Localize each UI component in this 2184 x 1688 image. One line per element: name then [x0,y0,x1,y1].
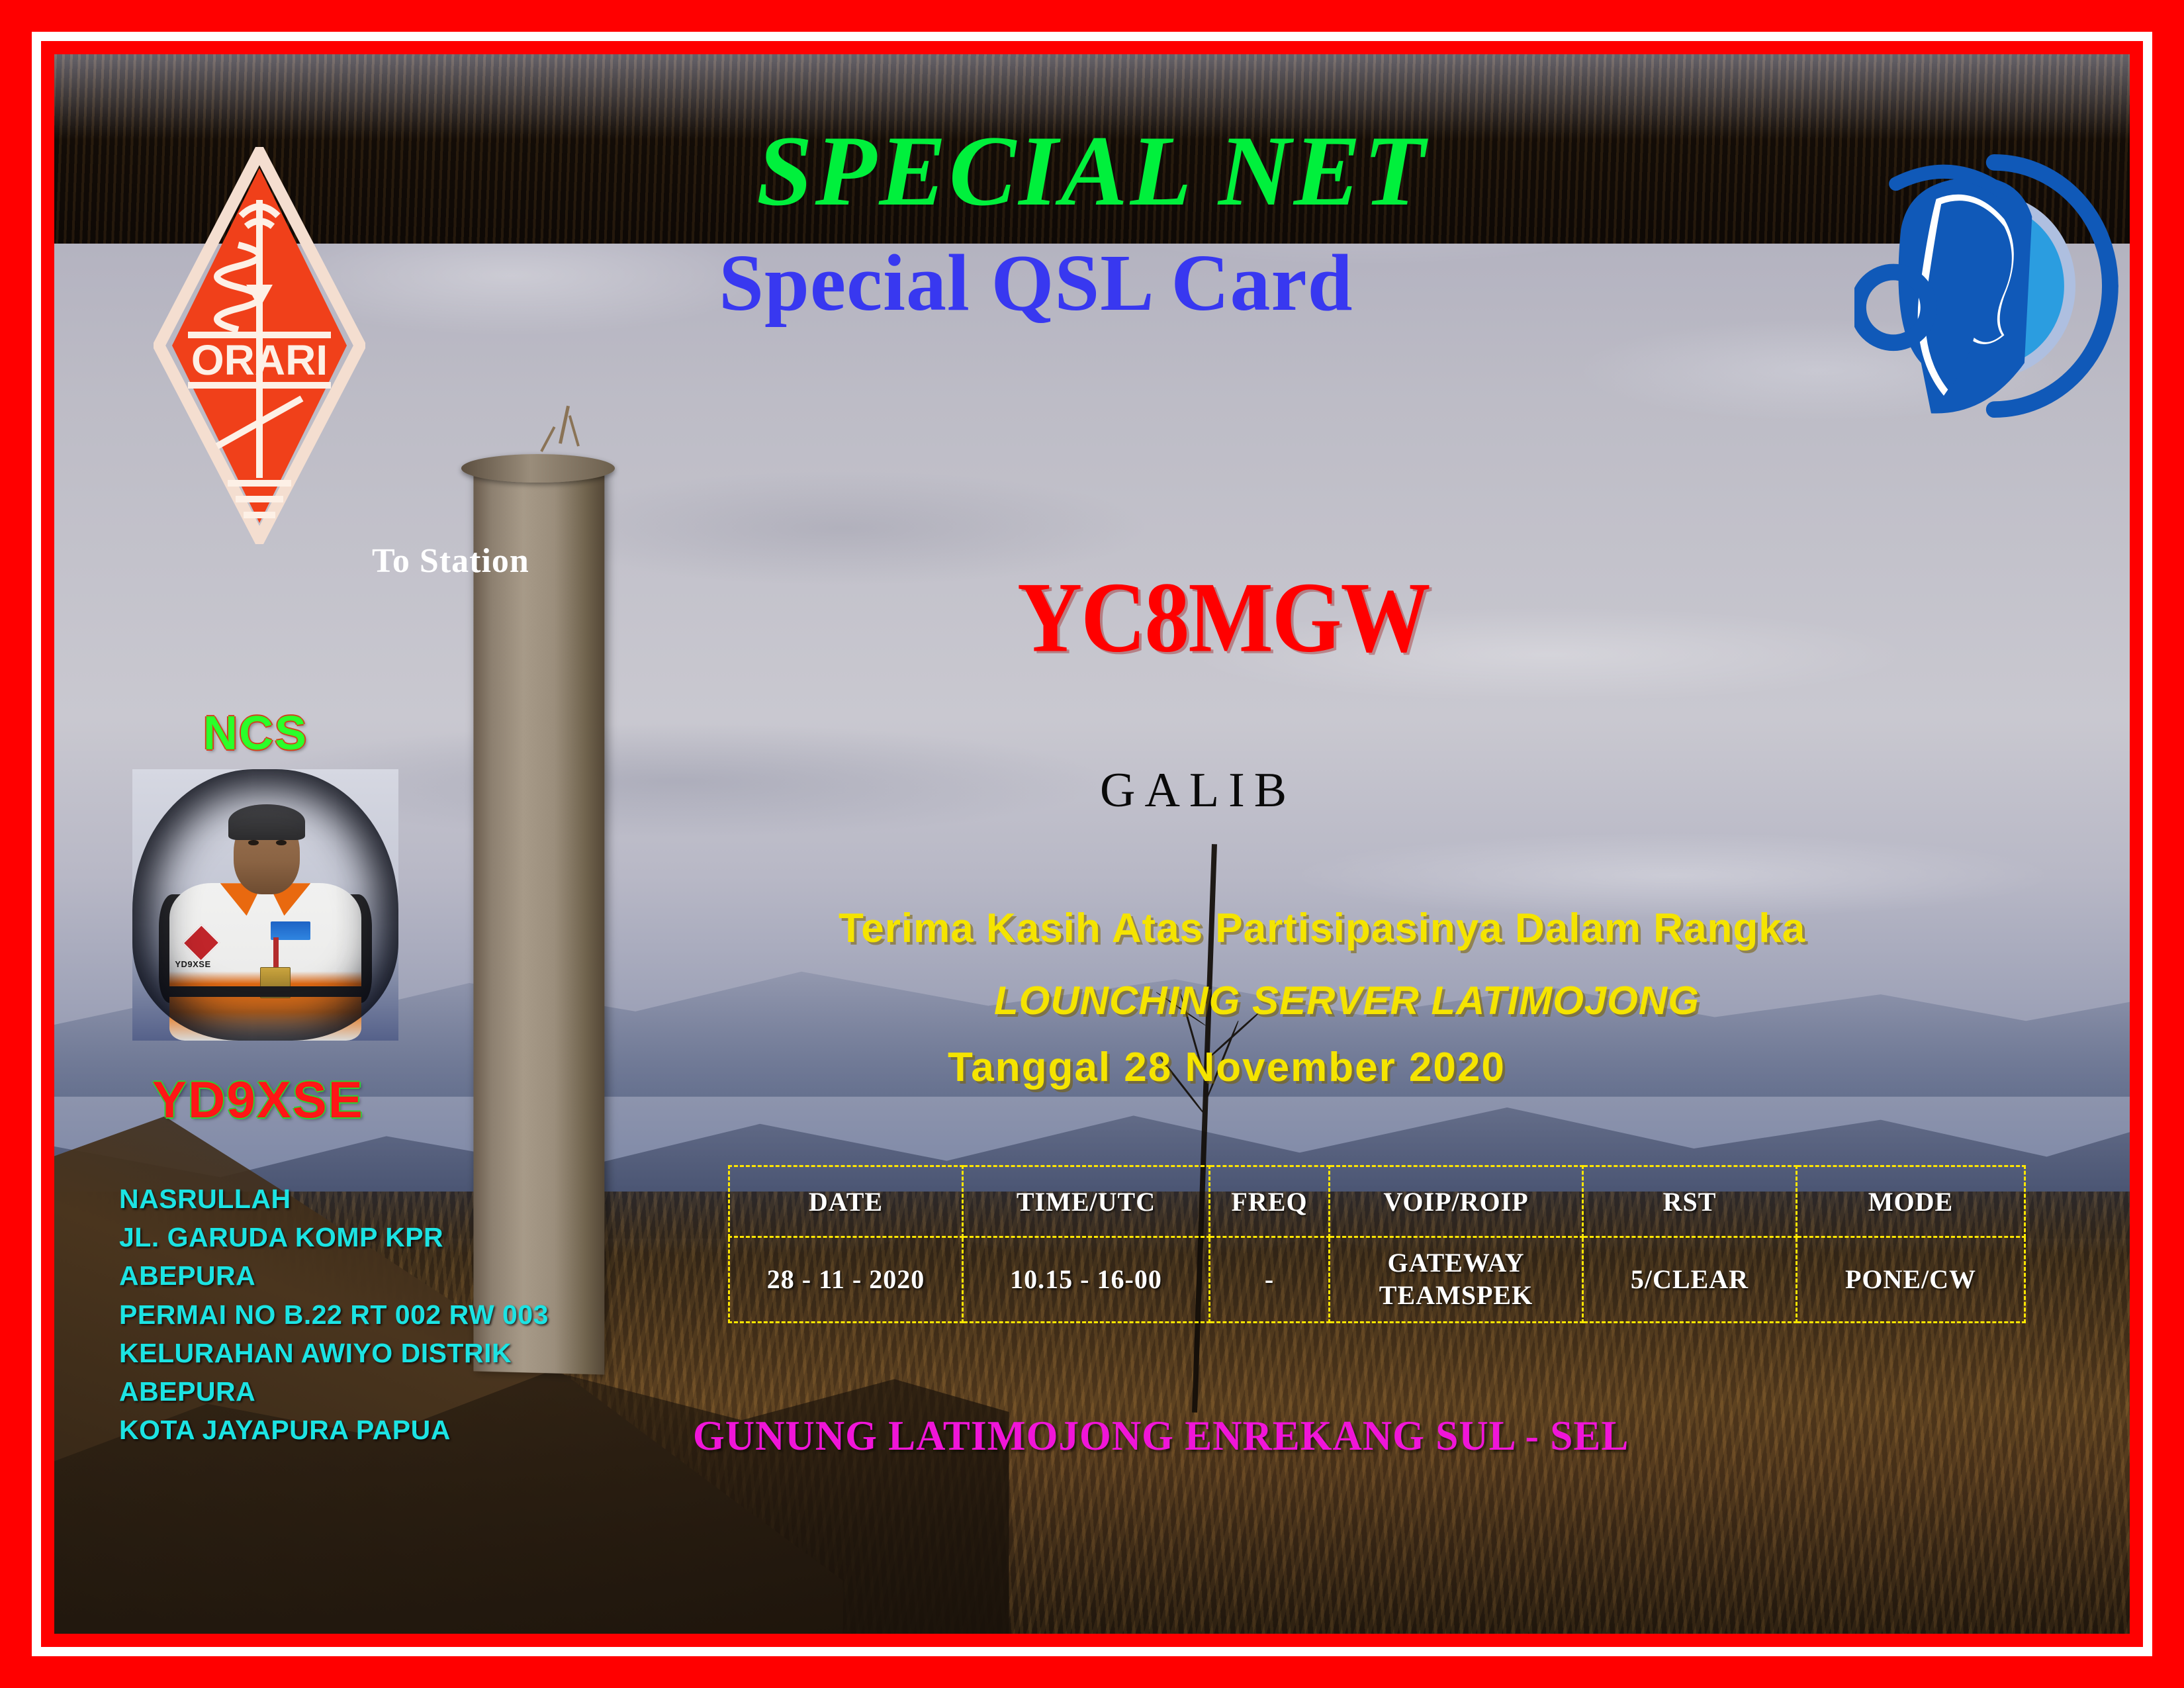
station-callsign: YC8MGW [1017,567,1430,668]
headset-soundwave-logo [1854,154,2130,418]
address-line: KOTA JAYAPURA PAPUA [119,1411,549,1449]
cell-voip-line2: TEAMSPEK [1330,1280,1582,1312]
column-header-rst: RST [1583,1166,1797,1237]
column-header-time: TIME/UTC [963,1166,1210,1237]
address-line: NASRULLAH [119,1180,549,1218]
address-line: ABEPURA [119,1256,549,1295]
column-header-voip: VOIP/ROIP [1330,1166,1583,1237]
qsl-card: ORARI [0,0,2184,1688]
thanks-line-3: Tanggal 28 November 2020 [948,1047,1506,1088]
qso-details-table: DATE TIME/UTC FREQ VOIP/ROIP RST MODE 28… [728,1165,2026,1323]
ncs-label: NCS [203,710,308,757]
page-subtitle: Special QSL Card [719,243,1353,324]
page-title: SPECIAL NET [756,120,1428,221]
operator-name: GALIB [1100,766,1296,815]
address-line: PERMAI NO B.22 RT 002 RW 003 [119,1295,549,1334]
cell-freq: - [1210,1237,1330,1323]
table-row: 28 - 11 - 2020 10.15 - 16-00 - GATEWAY T… [729,1237,2025,1323]
address-line: KELURAHAN AWIYO DISTRIK [119,1334,549,1372]
orari-logo-svg: ORARI [154,147,365,544]
thanks-line-2: LOUNCHING SERVER LATIMOJONG [994,981,1700,1021]
cell-rst: 5/CLEAR [1583,1237,1797,1323]
address-line: JL. GARUDA KOMP KPR [119,1218,549,1256]
orari-logo-text: ORARI [191,336,328,384]
cell-mode: PONE/CW [1797,1237,2025,1323]
location-caption: GUNUNG LATIMOJONG ENREKANG SUL - SEL [693,1415,1629,1457]
thanks-line-1: Terima Kasih Atas Partisipasinya Dalam R… [839,908,1805,949]
cell-time: 10.15 - 16-00 [963,1237,1210,1323]
cell-voip: GATEWAY TEAMSPEK [1330,1237,1583,1323]
to-station-label: To Station [372,544,529,579]
ncs-callsign: YD9XSE [152,1074,364,1125]
soundwave-logo-svg [1854,154,2130,418]
address-line: ABEPURA [119,1372,549,1411]
cell-voip-line1: GATEWAY [1330,1247,1582,1280]
orari-logo: ORARI [154,147,365,544]
monument-top-cap [461,454,615,483]
column-header-mode: MODE [1797,1166,2025,1237]
background-photograph: ORARI [54,54,2130,1634]
column-header-date: DATE [729,1166,963,1237]
table-header-row: DATE TIME/UTC FREQ VOIP/ROIP RST MODE [729,1166,2025,1237]
ncs-operator-photo: YD9XSE [132,769,398,1041]
column-header-freq: FREQ [1210,1166,1330,1237]
cell-date: 28 - 11 - 2020 [729,1237,963,1323]
portrait-vignette [132,769,398,1041]
mailing-address: NASRULLAH JL. GARUDA KOMP KPR ABEPURA PE… [119,1180,549,1450]
